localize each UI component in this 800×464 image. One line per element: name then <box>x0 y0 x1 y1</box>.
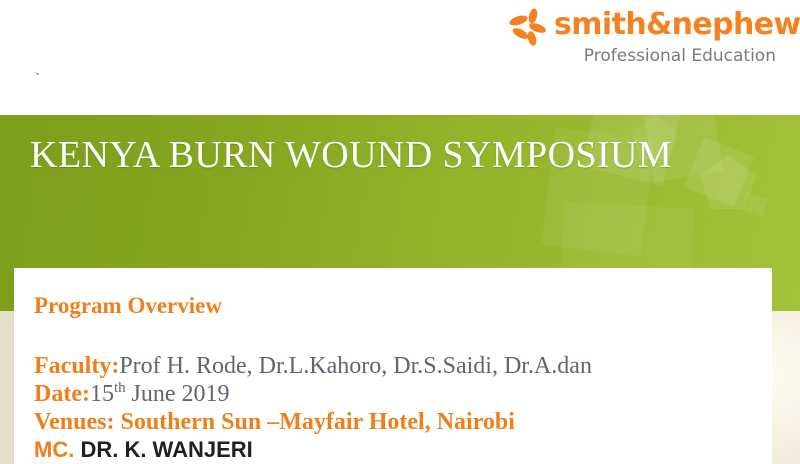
date-day-number: 15 <box>90 381 114 407</box>
faculty-label: Faculty: <box>34 353 119 379</box>
brand-logo: smith&nephew Professional Education <box>508 6 776 68</box>
smith-nephew-flower-icon <box>508 8 548 46</box>
faculty-value: Prof H. Rode, Dr.L.Kahoro, Dr.S.Saidi, D… <box>119 353 592 379</box>
slide-root: smith&nephew Professional Education ` KE… <box>0 0 800 464</box>
brand-wordmark: smith&nephew <box>554 6 800 44</box>
page-title: KENYA BURN WOUND SYMPOSIUM <box>30 133 672 177</box>
date-ordinal-suffix: th <box>114 380 126 396</box>
section-heading: Program Overview <box>34 293 222 319</box>
decorative-square-6 <box>746 195 769 218</box>
mc-value: DR. K. WANJERI <box>74 437 252 462</box>
date-line: Date:15th June 2019 <box>34 380 230 408</box>
faculty-line: Faculty:Prof H. Rode, Dr.L.Kahoro, Dr.S.… <box>34 352 592 380</box>
date-label: Date: <box>34 381 90 407</box>
mc-label: MC. <box>34 437 74 462</box>
venues-label: Venues: <box>34 409 114 435</box>
venues-line: Venues: Southern Sun –Mayfair Hotel, Nai… <box>34 408 515 436</box>
stray-tick-mark: ` <box>35 72 40 87</box>
date-month-year: June 2019 <box>126 381 230 407</box>
brand-tagline: Professional Education <box>548 46 776 66</box>
mc-line: MC. DR. K. WANJERI <box>34 436 253 464</box>
program-overview-card: Program Overview Faculty:Prof H. Rode, D… <box>14 268 772 464</box>
venues-value: Southern Sun –Mayfair Hotel, Nairobi <box>114 409 514 435</box>
